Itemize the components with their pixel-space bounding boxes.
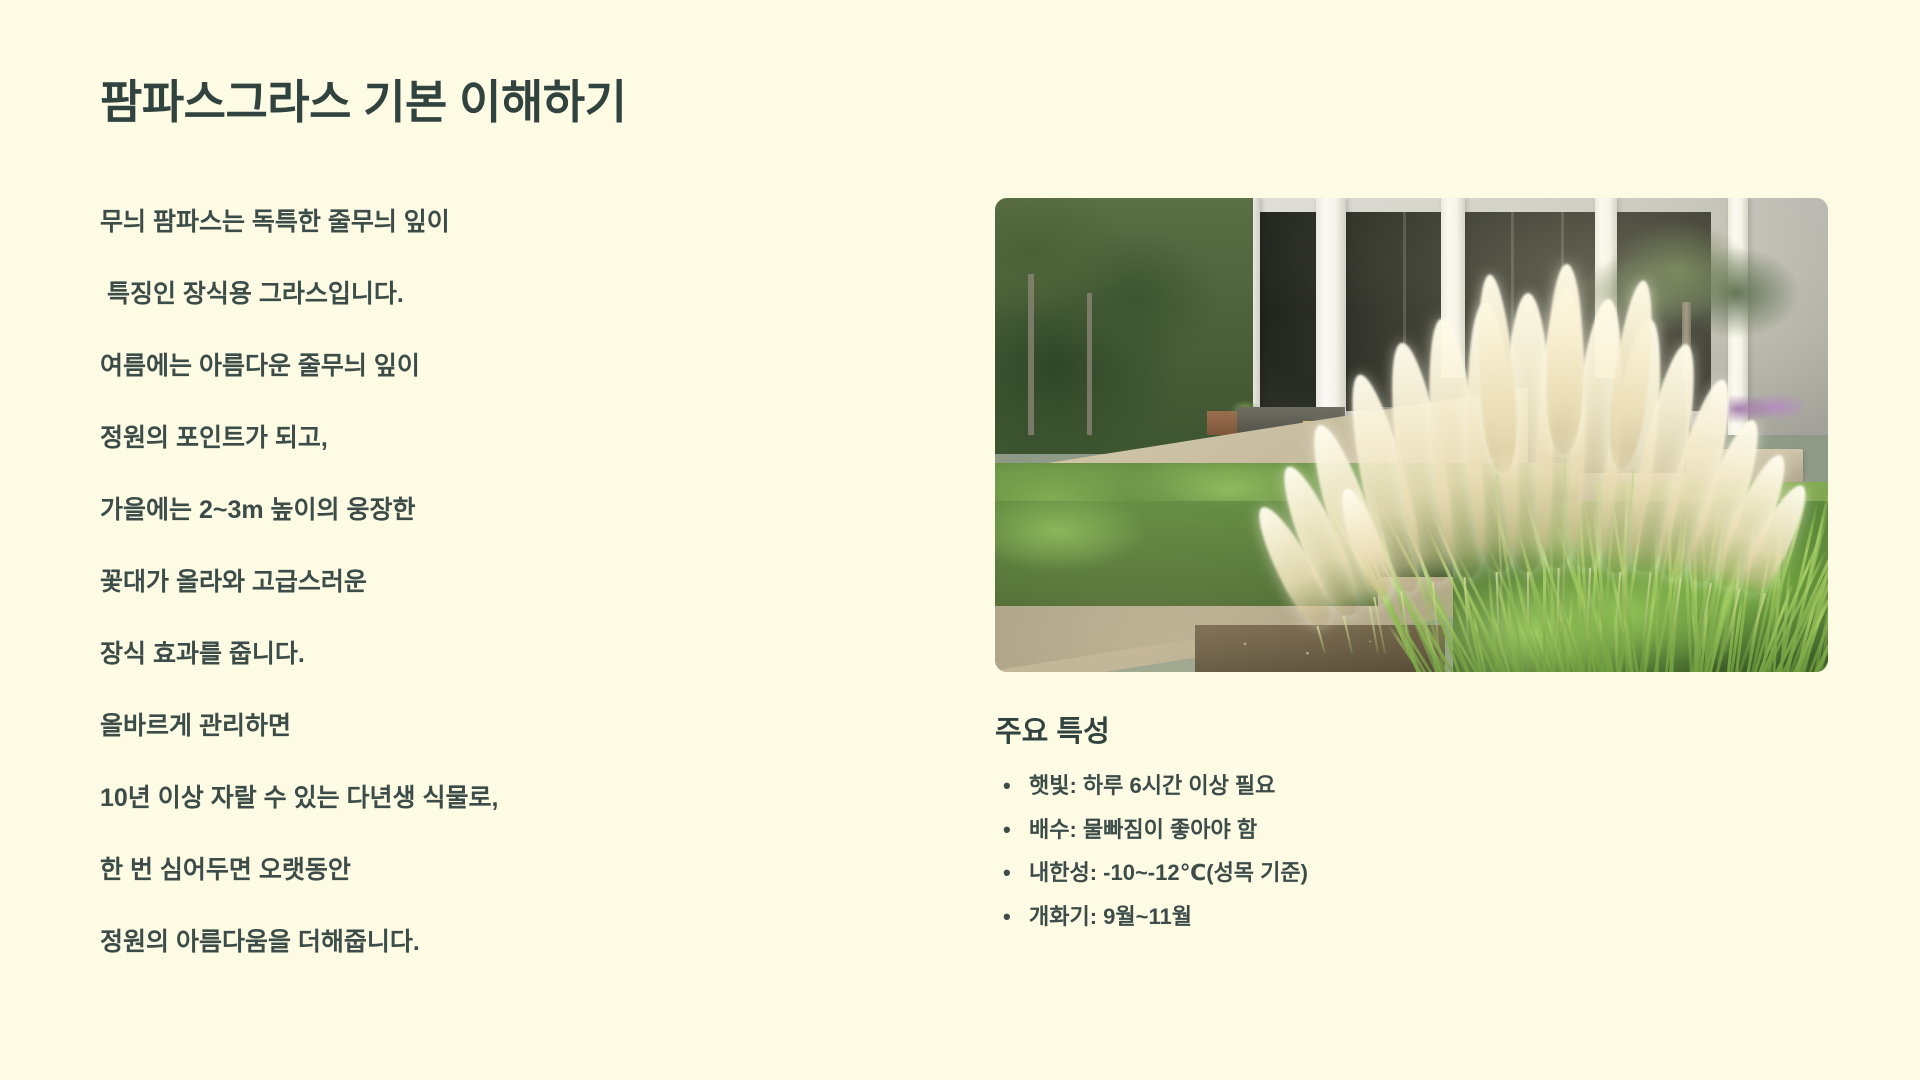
slide-root: 팜파스그라스 기본 이해하기 무늬 팜파스는 독특한 줄무늬 잎이 특징인 장식…	[0, 0, 1920, 1080]
body-line: 정원의 포인트가 되고,	[100, 402, 820, 474]
list-item-label: 햇빛: 하루 6시간 이상 필요	[1029, 772, 1275, 800]
bullet-icon: •	[995, 859, 1029, 887]
pampas-grass-garden-photo	[995, 198, 1828, 672]
features-heading: 주요 특성	[995, 708, 1828, 750]
list-item: • 햇빛: 하루 6시간 이상 필요	[995, 772, 1828, 800]
pampas-plumes	[995, 198, 1828, 672]
body-line: 여름에는 아름다운 줄무늬 잎이	[100, 330, 820, 402]
list-item-label: 내한성: -10~-12℃(성목 기준)	[1029, 859, 1308, 887]
body-copy: 무늬 팜파스는 독특한 줄무늬 잎이 특징인 장식용 그라스입니다. 여름에는 …	[100, 186, 820, 978]
body-line: 무늬 팜파스는 독특한 줄무늬 잎이	[100, 186, 820, 258]
body-line: 정원의 아름다움을 더해줍니다.	[100, 906, 820, 978]
page-title: 팜파스그라스 기본 이해하기	[100, 66, 626, 132]
features-list: • 햇빛: 하루 6시간 이상 필요 • 배수: 물빠짐이 좋아야 함 • 내한…	[995, 772, 1828, 930]
body-line: 특징인 장식용 그라스입니다.	[100, 258, 820, 330]
body-line: 10년 이상 자랄 수 있는 다년생 식물로,	[100, 762, 820, 834]
bullet-icon: •	[995, 772, 1029, 800]
list-item: • 배수: 물빠짐이 좋아야 함	[995, 816, 1828, 844]
body-line: 한 번 심어두면 오랫동안	[100, 834, 820, 906]
list-item: • 개화기: 9월~11월	[995, 903, 1828, 931]
bullet-icon: •	[995, 903, 1029, 931]
list-item: • 내한성: -10~-12℃(성목 기준)	[995, 859, 1828, 887]
list-item-label: 배수: 물빠짐이 좋아야 함	[1029, 816, 1257, 844]
right-column: 주요 특성 • 햇빛: 하루 6시간 이상 필요 • 배수: 물빠짐이 좋아야 …	[995, 198, 1828, 946]
body-line: 장식 효과를 줍니다.	[100, 618, 820, 690]
body-line: 꽃대가 올라와 고급스러운	[100, 546, 820, 618]
body-line: 올바르게 관리하면	[100, 690, 820, 762]
body-line: 가을에는 2~3m 높이의 웅장한	[100, 474, 820, 546]
bullet-icon: •	[995, 816, 1029, 844]
list-item-label: 개화기: 9월~11월	[1029, 903, 1192, 931]
